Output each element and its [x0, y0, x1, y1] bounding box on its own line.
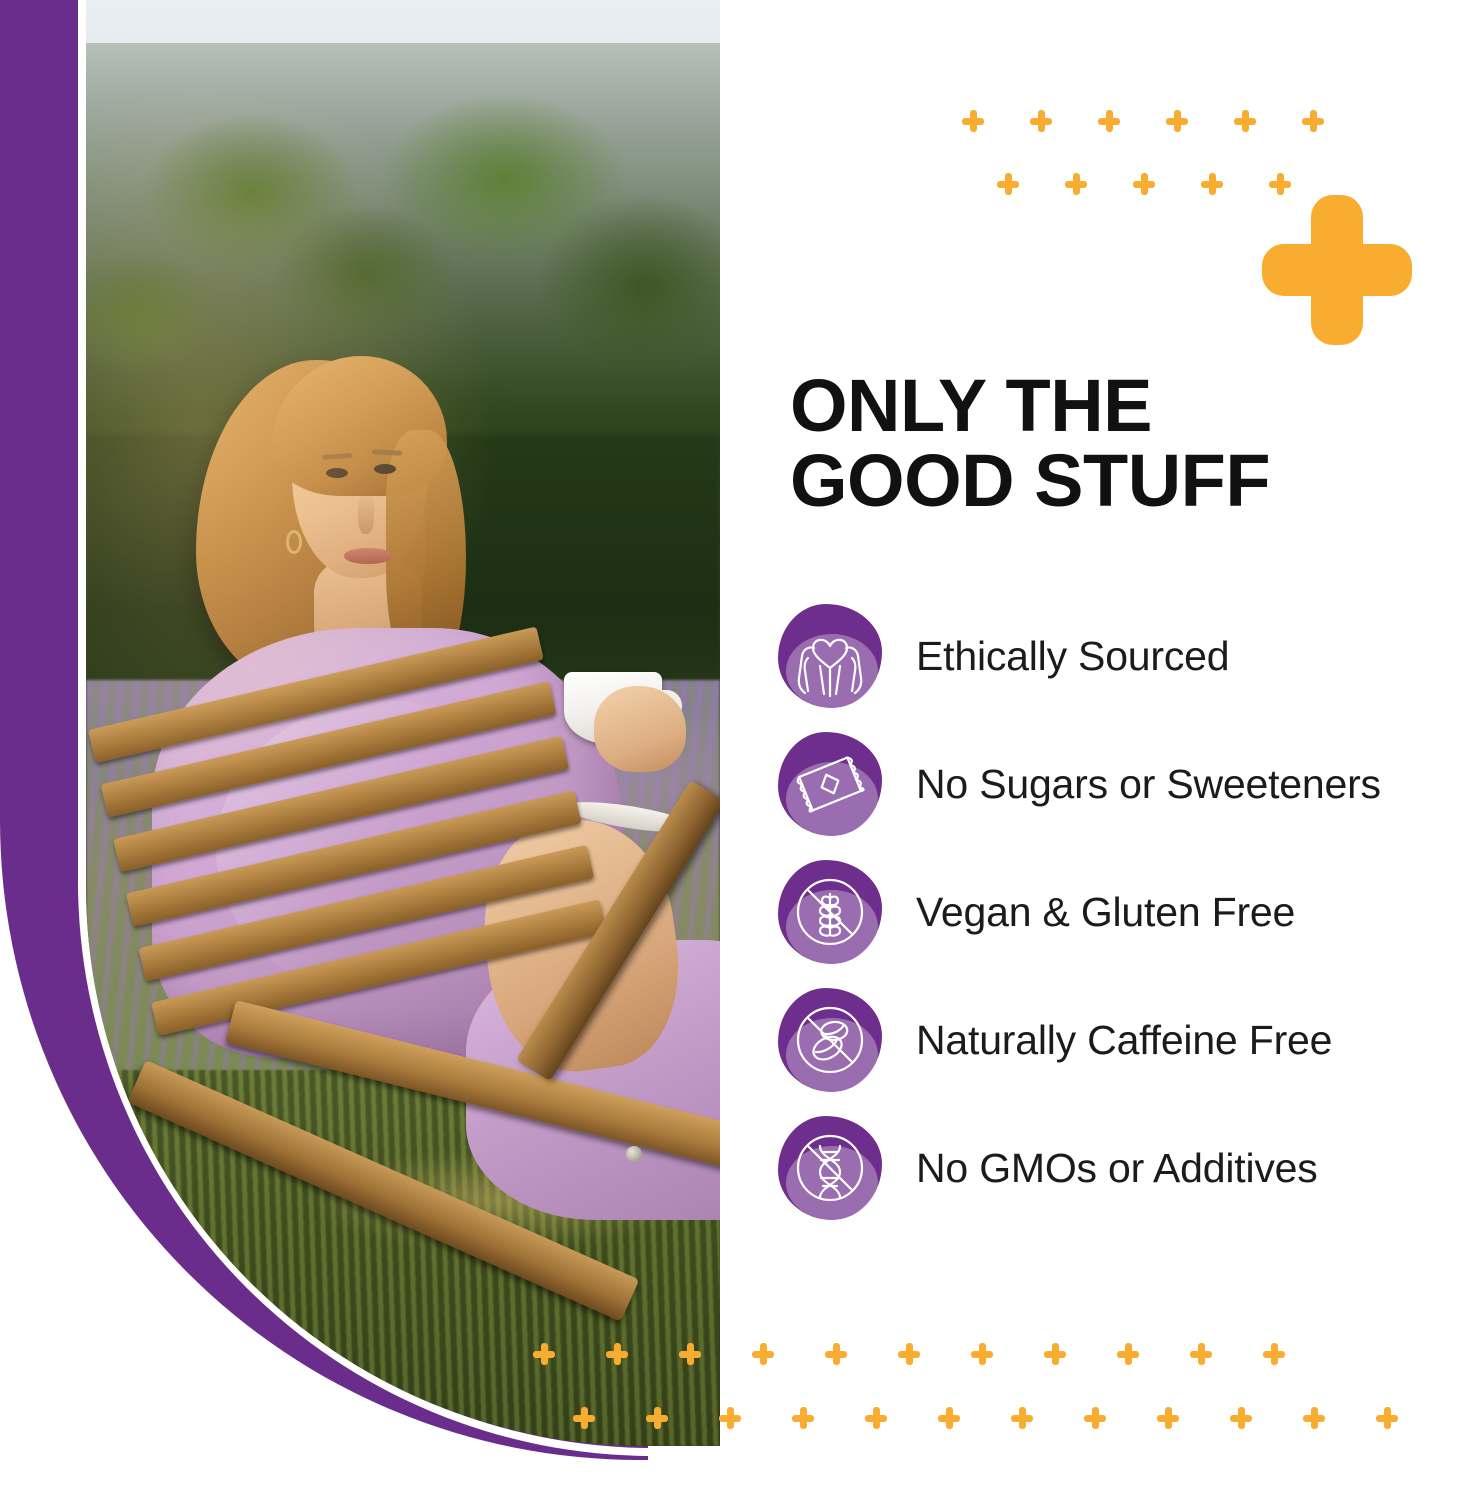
coffee-bean-no-caffeine-icon-glyph	[778, 988, 882, 1092]
headline-line-2: GOOD STUFF	[790, 443, 1470, 518]
plus-icon	[646, 1407, 668, 1429]
feature-label: No Sugars or Sweeteners	[916, 761, 1381, 808]
plus-icon	[1065, 173, 1087, 195]
plus-icon	[1234, 110, 1256, 132]
plus-icon	[1044, 1343, 1066, 1365]
feature-item: No GMOs or Additives	[778, 1112, 1476, 1224]
dna-no-gmo-icon-glyph	[778, 1116, 882, 1220]
sugar-packet-icon	[778, 732, 882, 836]
plus-icon	[1133, 173, 1155, 195]
feature-item: Naturally Caffeine Free	[778, 984, 1476, 1096]
content-panel: ONLY THE GOOD STUFF Ethically Sourced No…	[740, 0, 1476, 1500]
photo-woman-lips	[344, 548, 392, 564]
plus-icon	[1117, 1343, 1139, 1365]
photo-chair-screw	[626, 1146, 642, 1162]
photo-woman-earring	[286, 530, 302, 554]
plus-icon	[825, 1343, 847, 1365]
plus-icon	[865, 1407, 887, 1429]
coffee-bean-no-caffeine-icon	[778, 988, 882, 1092]
plus-icon	[1263, 1343, 1285, 1365]
plus-icon	[1084, 1407, 1106, 1429]
plus-icon	[1302, 110, 1324, 132]
plus-icon	[792, 1407, 814, 1429]
plus-icon	[1098, 110, 1120, 132]
wheat-no-gluten-icon-glyph	[778, 860, 882, 964]
plus-icon	[1190, 1343, 1212, 1365]
plus-icon	[938, 1407, 960, 1429]
sugar-packet-icon-glyph	[778, 732, 882, 836]
plus-icon	[1166, 110, 1188, 132]
plus-icon	[1376, 1407, 1398, 1429]
plus-icon	[1201, 173, 1223, 195]
plus-icon	[898, 1343, 920, 1365]
plus-icon	[573, 1407, 595, 1429]
feature-item: Vegan & Gluten Free	[778, 856, 1476, 968]
hands-holding-heart-icon-glyph	[778, 604, 882, 708]
plus-icon	[1011, 1407, 1033, 1429]
feature-label: No GMOs or Additives	[916, 1145, 1318, 1192]
plus-icon	[1269, 173, 1291, 195]
lifestyle-photo	[86, 0, 720, 1446]
plus-icon	[606, 1343, 628, 1365]
headline-line-1: ONLY THE	[790, 368, 1470, 443]
feature-item: Ethically Sourced	[778, 600, 1476, 712]
plus-icon	[1303, 1407, 1325, 1429]
photo-woman-nose	[358, 492, 374, 534]
feature-label: Vegan & Gluten Free	[916, 889, 1295, 936]
hands-holding-heart-icon	[778, 604, 882, 708]
feature-label: Naturally Caffeine Free	[916, 1017, 1332, 1064]
photo-woman-eye-left	[326, 468, 348, 478]
plus-icon	[719, 1407, 741, 1429]
bottom-plus-row-1	[533, 1343, 1285, 1365]
dna-no-gmo-icon	[778, 1116, 882, 1220]
large-plus-icon	[1262, 195, 1412, 345]
plus-icon	[962, 110, 984, 132]
bottom-plus-row-2	[573, 1407, 1398, 1429]
top-plus-row-2	[997, 173, 1291, 195]
plus-icon	[1157, 1407, 1179, 1429]
plus-icon	[533, 1343, 555, 1365]
plus-icon	[997, 173, 1019, 195]
plus-icon	[679, 1343, 701, 1365]
plus-icon	[752, 1343, 774, 1365]
page-title: ONLY THE GOOD STUFF	[790, 368, 1470, 519]
infographic-canvas: ONLY THE GOOD STUFF Ethically Sourced No…	[0, 0, 1476, 1500]
photo-woman-hand	[594, 686, 686, 772]
feature-list: Ethically Sourced No Sugars or Sweetener…	[778, 600, 1476, 1240]
wheat-no-gluten-icon	[778, 860, 882, 964]
feature-label: Ethically Sourced	[916, 633, 1229, 680]
photo-panel	[0, 0, 740, 1500]
photo-woman-eye-right	[374, 464, 396, 474]
plus-icon	[971, 1343, 993, 1365]
plus-icon	[1030, 110, 1052, 132]
top-plus-row-1	[962, 110, 1324, 132]
plus-icon	[1230, 1407, 1252, 1429]
feature-item: No Sugars or Sweeteners	[778, 728, 1476, 840]
